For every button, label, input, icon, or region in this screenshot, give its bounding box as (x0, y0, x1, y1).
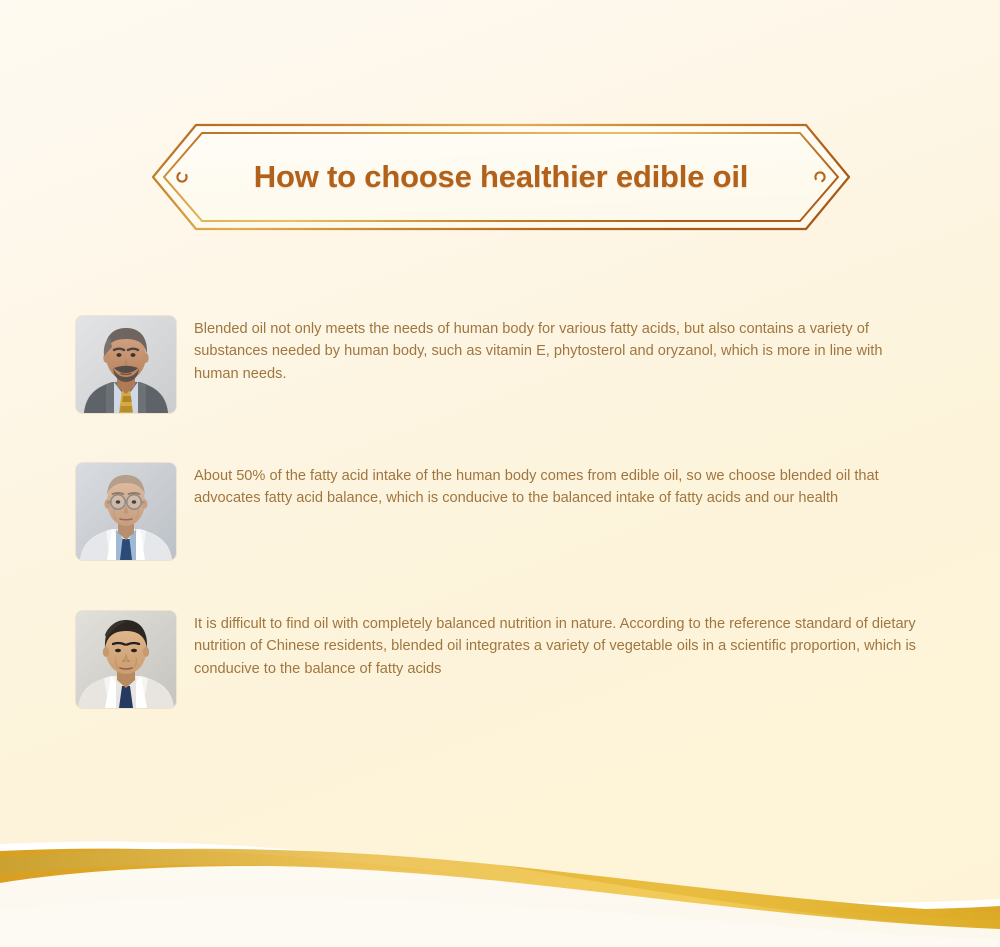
quote-text: It is difficult to find oil with complet… (194, 611, 924, 680)
expert-portrait-1 (76, 316, 176, 413)
quote-text: About 50% of the fatty acid intake of th… (194, 463, 930, 510)
quote-text: Blended oil not only meets the needs of … (194, 316, 930, 385)
page-title: How to choose healthier edible oil (150, 122, 852, 232)
list-item: It is difficult to find oil with complet… (76, 611, 936, 708)
list-item: Blended oil not only meets the needs of … (76, 316, 936, 413)
bottom-gold-wave-decoration (0, 817, 1000, 947)
list-item: About 50% of the fatty acid intake of th… (76, 463, 936, 560)
expert-portrait-2 (76, 463, 176, 560)
expert-portrait-3 (76, 611, 176, 708)
title-banner: How to choose healthier edible oil (150, 122, 852, 232)
